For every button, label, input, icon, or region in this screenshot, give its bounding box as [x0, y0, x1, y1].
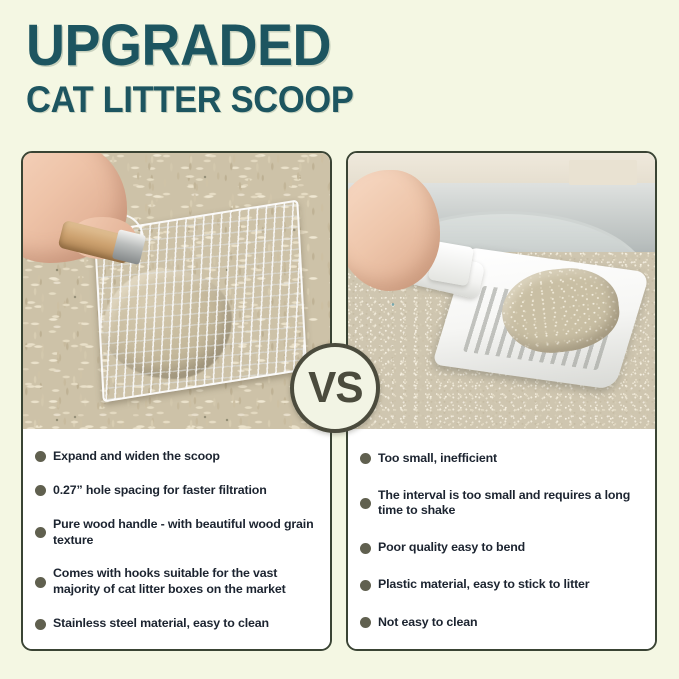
bullet-dot-icon: [360, 543, 371, 554]
page-subtitle: CAT LITTER SCOOP: [26, 81, 603, 120]
list-item: Plastic material, easy to stick to litte…: [360, 576, 643, 594]
list-item-label: Not easy to clean: [378, 615, 477, 631]
hand-shape: [348, 170, 440, 291]
list-item: Pure wood handle - with beautiful wood g…: [35, 516, 318, 550]
list-item: Expand and widen the scoop: [35, 448, 318, 466]
vs-badge-label: VS: [308, 366, 362, 410]
bullet-dot-icon: [360, 617, 371, 628]
list-item: The interval is too small and requires a…: [360, 487, 643, 521]
list-item: 0.27” hole spacing for faster filtration: [35, 482, 318, 500]
bullet-dot-icon: [35, 527, 46, 538]
bullet-dot-icon: [35, 619, 46, 630]
pros-list: Expand and widen the scoop 0.27” hole sp…: [23, 429, 330, 649]
list-item: Not easy to clean: [360, 614, 643, 632]
list-item-label: Stainless steel material, easy to clean: [53, 616, 269, 632]
vs-badge: VS: [290, 343, 380, 433]
list-item-label: Pure wood handle - with beautiful wood g…: [53, 517, 318, 549]
list-item: Too small, inefficient: [360, 450, 643, 468]
header: UPGRADED CAT LITTER SCOOP: [26, 16, 646, 120]
list-item-label: Plastic material, easy to stick to litte…: [378, 577, 589, 593]
list-item-label: 0.27” hole spacing for faster filtration: [53, 483, 267, 499]
list-item-label: Poor quality easy to bend: [378, 540, 525, 556]
panel-upgraded-product: Expand and widen the scoop 0.27” hole sp…: [21, 151, 332, 651]
list-item: Poor quality easy to bend: [360, 539, 643, 557]
bullet-dot-icon: [360, 498, 371, 509]
photo-plastic-scoop: [348, 153, 655, 429]
list-item-label: Comes with hooks suitable for the vast m…: [53, 566, 318, 598]
list-item-label: Expand and widen the scoop: [53, 449, 220, 465]
list-item-label: The interval is too small and requires a…: [378, 488, 643, 520]
panel-ordinary-product: Too small, inefficient The interval is t…: [346, 151, 657, 651]
photo-stainless-steel-scoop: [23, 153, 330, 429]
bullet-dot-icon: [360, 453, 371, 464]
bullet-dot-icon: [35, 485, 46, 496]
cons-list: Too small, inefficient The interval is t…: [348, 429, 655, 649]
list-item: Stainless steel material, easy to clean: [35, 615, 318, 633]
list-item-label: Too small, inefficient: [378, 451, 497, 467]
bullet-dot-icon: [35, 577, 46, 588]
bullet-dot-icon: [35, 451, 46, 462]
page-title: UPGRADED: [26, 16, 603, 75]
list-item: Comes with hooks suitable for the vast m…: [35, 565, 318, 599]
bullet-dot-icon: [360, 580, 371, 591]
